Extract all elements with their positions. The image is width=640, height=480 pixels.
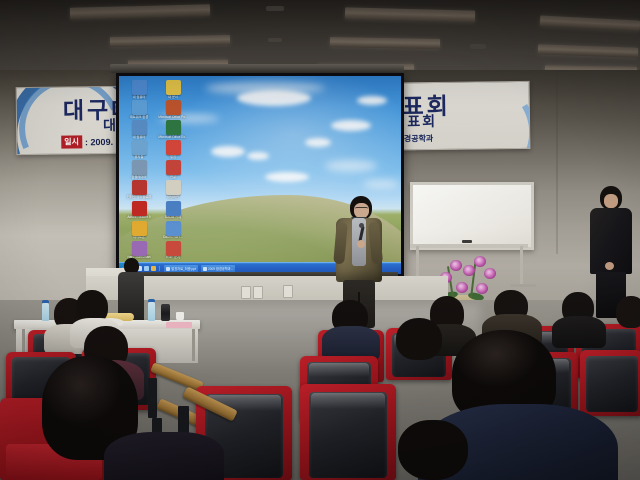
cloud — [325, 160, 377, 172]
desktop-icon-label: Microsoft Office Ex... — [157, 136, 189, 140]
desktop-icon-label: 네이트온 — [123, 236, 155, 240]
desktop-icon-label: DAUM 카페 — [157, 216, 189, 220]
desktop-icon[interactable]: Microsoft Office Po... — [157, 100, 189, 119]
desktop-icon[interactable]: 곰플레이어 — [123, 160, 155, 179]
icon-glyph — [132, 160, 147, 175]
cloud — [205, 82, 325, 94]
glasses — [355, 207, 368, 212]
desktop-icon-label: Adobe Reader 9 — [123, 216, 155, 220]
desktop-icon-label: HWP 문서 — [157, 256, 189, 260]
cloud — [247, 152, 269, 160]
icon-glyph — [166, 100, 181, 115]
wall-outlet — [241, 286, 251, 299]
head — [398, 420, 468, 480]
armrest-post — [148, 378, 157, 418]
desktop-icon[interactable]: 인터넷 익스플로러 — [123, 180, 155, 199]
orchid-bloom — [484, 268, 496, 279]
ceiling-light-fixture — [110, 35, 230, 47]
desktop-icon[interactable]: 내 컴퓨터 — [123, 80, 155, 99]
water-bottle — [148, 302, 155, 321]
icon-glyph — [132, 140, 147, 155]
task-button-label: 2009 환경공학과... — [208, 266, 233, 271]
bottle-cap — [148, 299, 155, 302]
banner-date-label: 일시 — [61, 135, 82, 148]
task-icon — [203, 267, 207, 271]
orchid-bloom — [456, 282, 468, 293]
whiteboard-marker[interactable] — [462, 240, 472, 243]
desktop-icon-label: Daum PotPl... — [157, 236, 189, 240]
orchid-bloom — [474, 256, 486, 267]
desktop-icon[interactable]: 네트워크 환경 — [123, 100, 155, 119]
desktop-icon-label: 휴지통 — [123, 156, 155, 160]
wall-seam — [556, 74, 558, 254]
auditorium-photo: 대구대 발표회 대구 표회 일시 : 2009. 11. 20(금 : 대구대학… — [0, 0, 640, 480]
banner-subtitle-right: 표회 — [407, 111, 437, 131]
desktop-icon[interactable]: DAUM 카페 — [157, 201, 189, 220]
bottle-cap — [42, 300, 49, 303]
icon-glyph — [166, 221, 181, 236]
shoulders — [552, 316, 606, 348]
seat-gloss — [311, 393, 385, 409]
seat[interactable] — [580, 350, 640, 416]
desktop-icon[interactable]: Nero StartSmart — [123, 241, 155, 260]
cloud — [357, 96, 387, 105]
screen-roller-case — [110, 64, 404, 73]
desktop-icon-label: 내 컴퓨터 — [123, 96, 155, 100]
desktop-icon[interactable]: 내 문서 — [157, 80, 189, 99]
icon-glyph — [132, 80, 147, 95]
icon-glyph — [166, 140, 181, 155]
hand — [357, 240, 365, 248]
ceiling-light-fixture — [330, 37, 440, 49]
desktop-icon-label: 내 컴퓨터 — [123, 136, 155, 140]
task-icon — [166, 267, 170, 271]
icon-glyph — [132, 180, 147, 195]
icon-glyph — [166, 201, 181, 216]
table-leg — [192, 329, 195, 361]
desktop-icon-label: 한글 — [157, 176, 189, 180]
quick-launch-icon[interactable] — [151, 266, 156, 271]
desktop-icon-label: 알집 — [157, 156, 189, 160]
desktop-icon-label: 네트워크 환경 — [123, 116, 155, 120]
icon-glyph — [132, 221, 147, 236]
cloud — [265, 172, 309, 182]
desktop-icon-grid[interactable]: 내 컴퓨터 내 문서 네트워크 환경 Microsoft Office Po..… — [123, 80, 189, 260]
desktop-icon-label: 내 문서 — [157, 96, 189, 100]
hand — [605, 262, 614, 270]
task-button-label: 발표자료_최종.ppt — [171, 266, 196, 271]
icon-glyph — [132, 201, 147, 216]
paper-cup — [176, 312, 184, 321]
desktop-icon-label: Microsoft Office Po... — [157, 116, 189, 120]
desktop-icon-label: 곰플레이어 — [123, 176, 155, 180]
wall-outlet — [253, 286, 263, 299]
icon-glyph — [166, 180, 181, 195]
seat-gloss — [309, 363, 369, 377]
ceiling-vent — [470, 44, 486, 49]
icon-glyph — [166, 241, 181, 256]
desktop-icon[interactable]: Daum PotPl... — [157, 221, 189, 240]
desktop-icon[interactable]: HWP 문서 — [157, 241, 189, 260]
ceiling-vent — [266, 6, 284, 11]
head — [616, 296, 640, 328]
orchid-bloom — [476, 283, 488, 294]
icon-glyph — [166, 160, 181, 175]
microphone-head — [359, 223, 364, 228]
whiteboard-leg — [520, 246, 523, 286]
desktop-icon[interactable]: 내 컴퓨터 — [123, 120, 155, 139]
desktop-icon[interactable]: 휴지통 — [123, 140, 155, 159]
ceiling-vent — [268, 38, 282, 42]
icon-glyph — [166, 120, 181, 135]
cloud — [331, 120, 371, 131]
seat[interactable] — [300, 384, 396, 480]
icon-glyph — [132, 100, 147, 115]
cloud — [211, 146, 245, 157]
desktop-icon[interactable]: 바탕화면 — [157, 180, 189, 199]
quick-launch-icon[interactable] — [144, 266, 149, 271]
whiteboard-marker-tray — [410, 244, 528, 248]
orchid-bloom — [450, 260, 462, 271]
seat-panel — [586, 356, 638, 412]
desktop-icon[interactable]: 네이트온 — [123, 221, 155, 240]
face — [604, 194, 618, 208]
desktop-icon-label: 바탕화면 — [157, 196, 189, 200]
desktop-icon[interactable]: 알집 — [157, 140, 189, 159]
cloud — [305, 138, 331, 147]
canned-drink — [161, 304, 170, 321]
whiteboard-foot — [510, 284, 536, 287]
desktop-icon-label: 인터넷 익스플로러 — [123, 196, 155, 200]
desktop-icon[interactable]: 한글 — [157, 160, 189, 179]
wall-outlet — [283, 285, 293, 298]
standing-person-left — [118, 258, 144, 320]
water-bottle — [42, 303, 49, 321]
head — [396, 318, 442, 360]
desktop-icon[interactable]: Adobe Reader 9 — [123, 201, 155, 220]
icon-glyph — [132, 241, 147, 256]
icon-glyph — [132, 120, 147, 135]
desktop-icon[interactable]: Microsoft Office Ex... — [157, 120, 189, 139]
icon-glyph — [166, 80, 181, 95]
orchid-bloom — [463, 265, 475, 276]
whiteboard — [410, 182, 534, 250]
shoulders — [104, 432, 224, 480]
shoulders — [322, 326, 380, 360]
napkin — [166, 322, 192, 328]
cloud — [363, 180, 399, 188]
